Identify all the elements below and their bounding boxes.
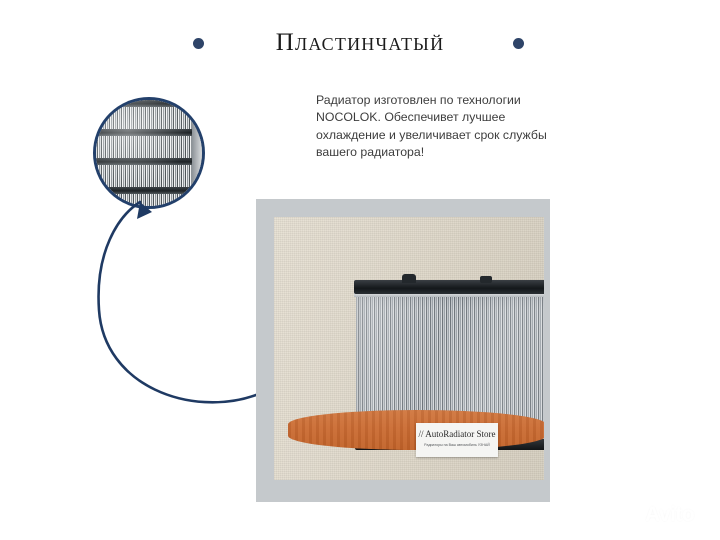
- slide-canvas: Пластинчатый Радиатор изготовлен по техн…: [0, 0, 720, 540]
- avito-logo-icon: [620, 503, 642, 525]
- body-paragraph: Радиатор изготовлен по технологии NOCOLO…: [316, 92, 548, 162]
- avito-watermark: Avito: [620, 500, 708, 528]
- radiator-mount-bracket: [480, 276, 492, 283]
- product-photo-panel: // AutoRadiator Store Радиаторы на Ваш а…: [256, 199, 550, 502]
- bullet-dot-right-icon: [513, 38, 524, 49]
- radiator-top-tank: [354, 280, 544, 294]
- store-info-card: // AutoRadiator Store Радиаторы на Ваш а…: [416, 423, 498, 457]
- product-photo: // AutoRadiator Store Радиаторы на Ваш а…: [274, 217, 544, 480]
- store-card-title: // AutoRadiator Store: [416, 429, 498, 439]
- bullet-dot-left-icon: [193, 38, 204, 49]
- avito-wordmark: Avito: [645, 504, 694, 525]
- curved-arrow-icon: [96, 190, 276, 415]
- radiator-filler-neck: [402, 274, 416, 283]
- page-title: Пластинчатый: [230, 24, 490, 62]
- store-card-subtitle: Радиаторы на Ваш автомобиль УЗНАЙ: [416, 443, 498, 447]
